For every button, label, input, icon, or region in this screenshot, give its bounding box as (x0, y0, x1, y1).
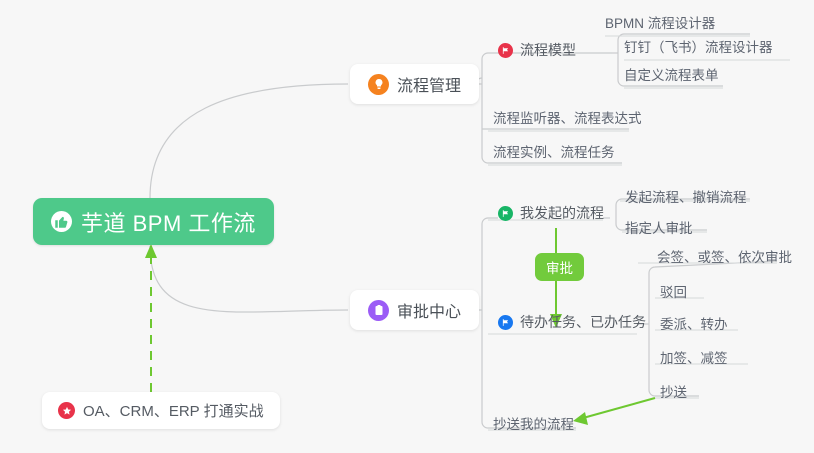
root-label: 芋道 BPM 工作流 (81, 206, 256, 238)
arrowhead-bottom-to-root (145, 244, 157, 258)
node-label: 会签、或签、依次审批 (657, 246, 792, 266)
node-label: 抄送 (660, 381, 687, 401)
node-label: 待办任务、已办任务 (520, 312, 646, 332)
node-cc-my-process[interactable]: 抄送我的流程 (487, 413, 580, 436)
node-label: 加签、减签 (660, 347, 728, 367)
bottom-card-label: OA、CRM、ERP 打通实战 (83, 400, 264, 421)
star-icon (58, 402, 75, 419)
link-root-to-approval-center (150, 246, 348, 312)
node-label: 抄送我的流程 (493, 413, 574, 433)
lightbulb-icon (368, 74, 389, 95)
node-process-instance[interactable]: 流程实例、流程任务 (487, 141, 621, 164)
node-custom-form[interactable]: 自定义流程表单 (618, 64, 725, 87)
node-my-initiated[interactable]: 我发起的流程 (492, 203, 610, 226)
flag-icon (498, 206, 513, 221)
node-label: 我发起的流程 (520, 203, 604, 223)
node-assignee-approval[interactable]: 指定人审批 (619, 217, 699, 240)
mindmap-canvas: 芋道 BPM 工作流 流程管理 流程模型 BPMN 流程设计器 钉钉（飞书）流程… (0, 0, 814, 453)
node-label: 发起流程、撤销流程 (625, 186, 747, 206)
link-root-to-process-management (150, 84, 348, 198)
node-label: BPMN 流程设计器 (605, 12, 715, 32)
node-todo-done-tasks[interactable]: 待办任务、已办任务 (492, 312, 652, 335)
node-label: 钉钉（飞书）流程设计器 (624, 36, 773, 56)
arrow-cc-to-cc-my (583, 398, 655, 418)
node-start-cancel-process[interactable]: 发起流程、撤销流程 (619, 186, 753, 209)
thumbs-up-icon (51, 211, 72, 232)
bottom-card-integration[interactable]: OA、CRM、ERP 打通实战 (42, 392, 280, 429)
node-process-listener[interactable]: 流程监听器、流程表达式 (487, 107, 648, 130)
node-label: 流程实例、流程任务 (493, 141, 615, 161)
node-countersign[interactable]: 会签、或签、依次审批 (651, 246, 798, 269)
node-bpmn-designer[interactable]: BPMN 流程设计器 (599, 12, 721, 35)
node-dingtalk-designer[interactable]: 钉钉（飞书）流程设计器 (618, 36, 779, 59)
node-add-remove-sign[interactable]: 加签、减签 (654, 347, 734, 370)
flag-icon (498, 315, 513, 330)
branch-process-management[interactable]: 流程管理 (350, 64, 479, 104)
node-label: 委派、转办 (660, 313, 728, 333)
approval-pill-label: 审批 (546, 257, 573, 277)
flag-icon (498, 43, 513, 58)
node-process-model[interactable]: 流程模型 (492, 40, 582, 63)
node-label: 驳回 (660, 281, 687, 301)
node-label: 自定义流程表单 (624, 64, 719, 84)
node-label: 流程监听器、流程表达式 (493, 107, 642, 127)
node-cc[interactable]: 抄送 (654, 381, 693, 404)
branch-label: 流程管理 (397, 72, 461, 96)
node-label: 流程模型 (520, 40, 576, 60)
approval-pill[interactable]: 审批 (535, 253, 584, 281)
clipboard-icon (368, 300, 389, 321)
node-delegate-transfer[interactable]: 委派、转办 (654, 313, 734, 336)
branch-label: 审批中心 (397, 298, 461, 322)
root-node[interactable]: 芋道 BPM 工作流 (33, 198, 274, 245)
node-label: 指定人审批 (625, 217, 693, 237)
branch-approval-center[interactable]: 审批中心 (350, 290, 479, 330)
node-reject[interactable]: 驳回 (654, 281, 693, 304)
